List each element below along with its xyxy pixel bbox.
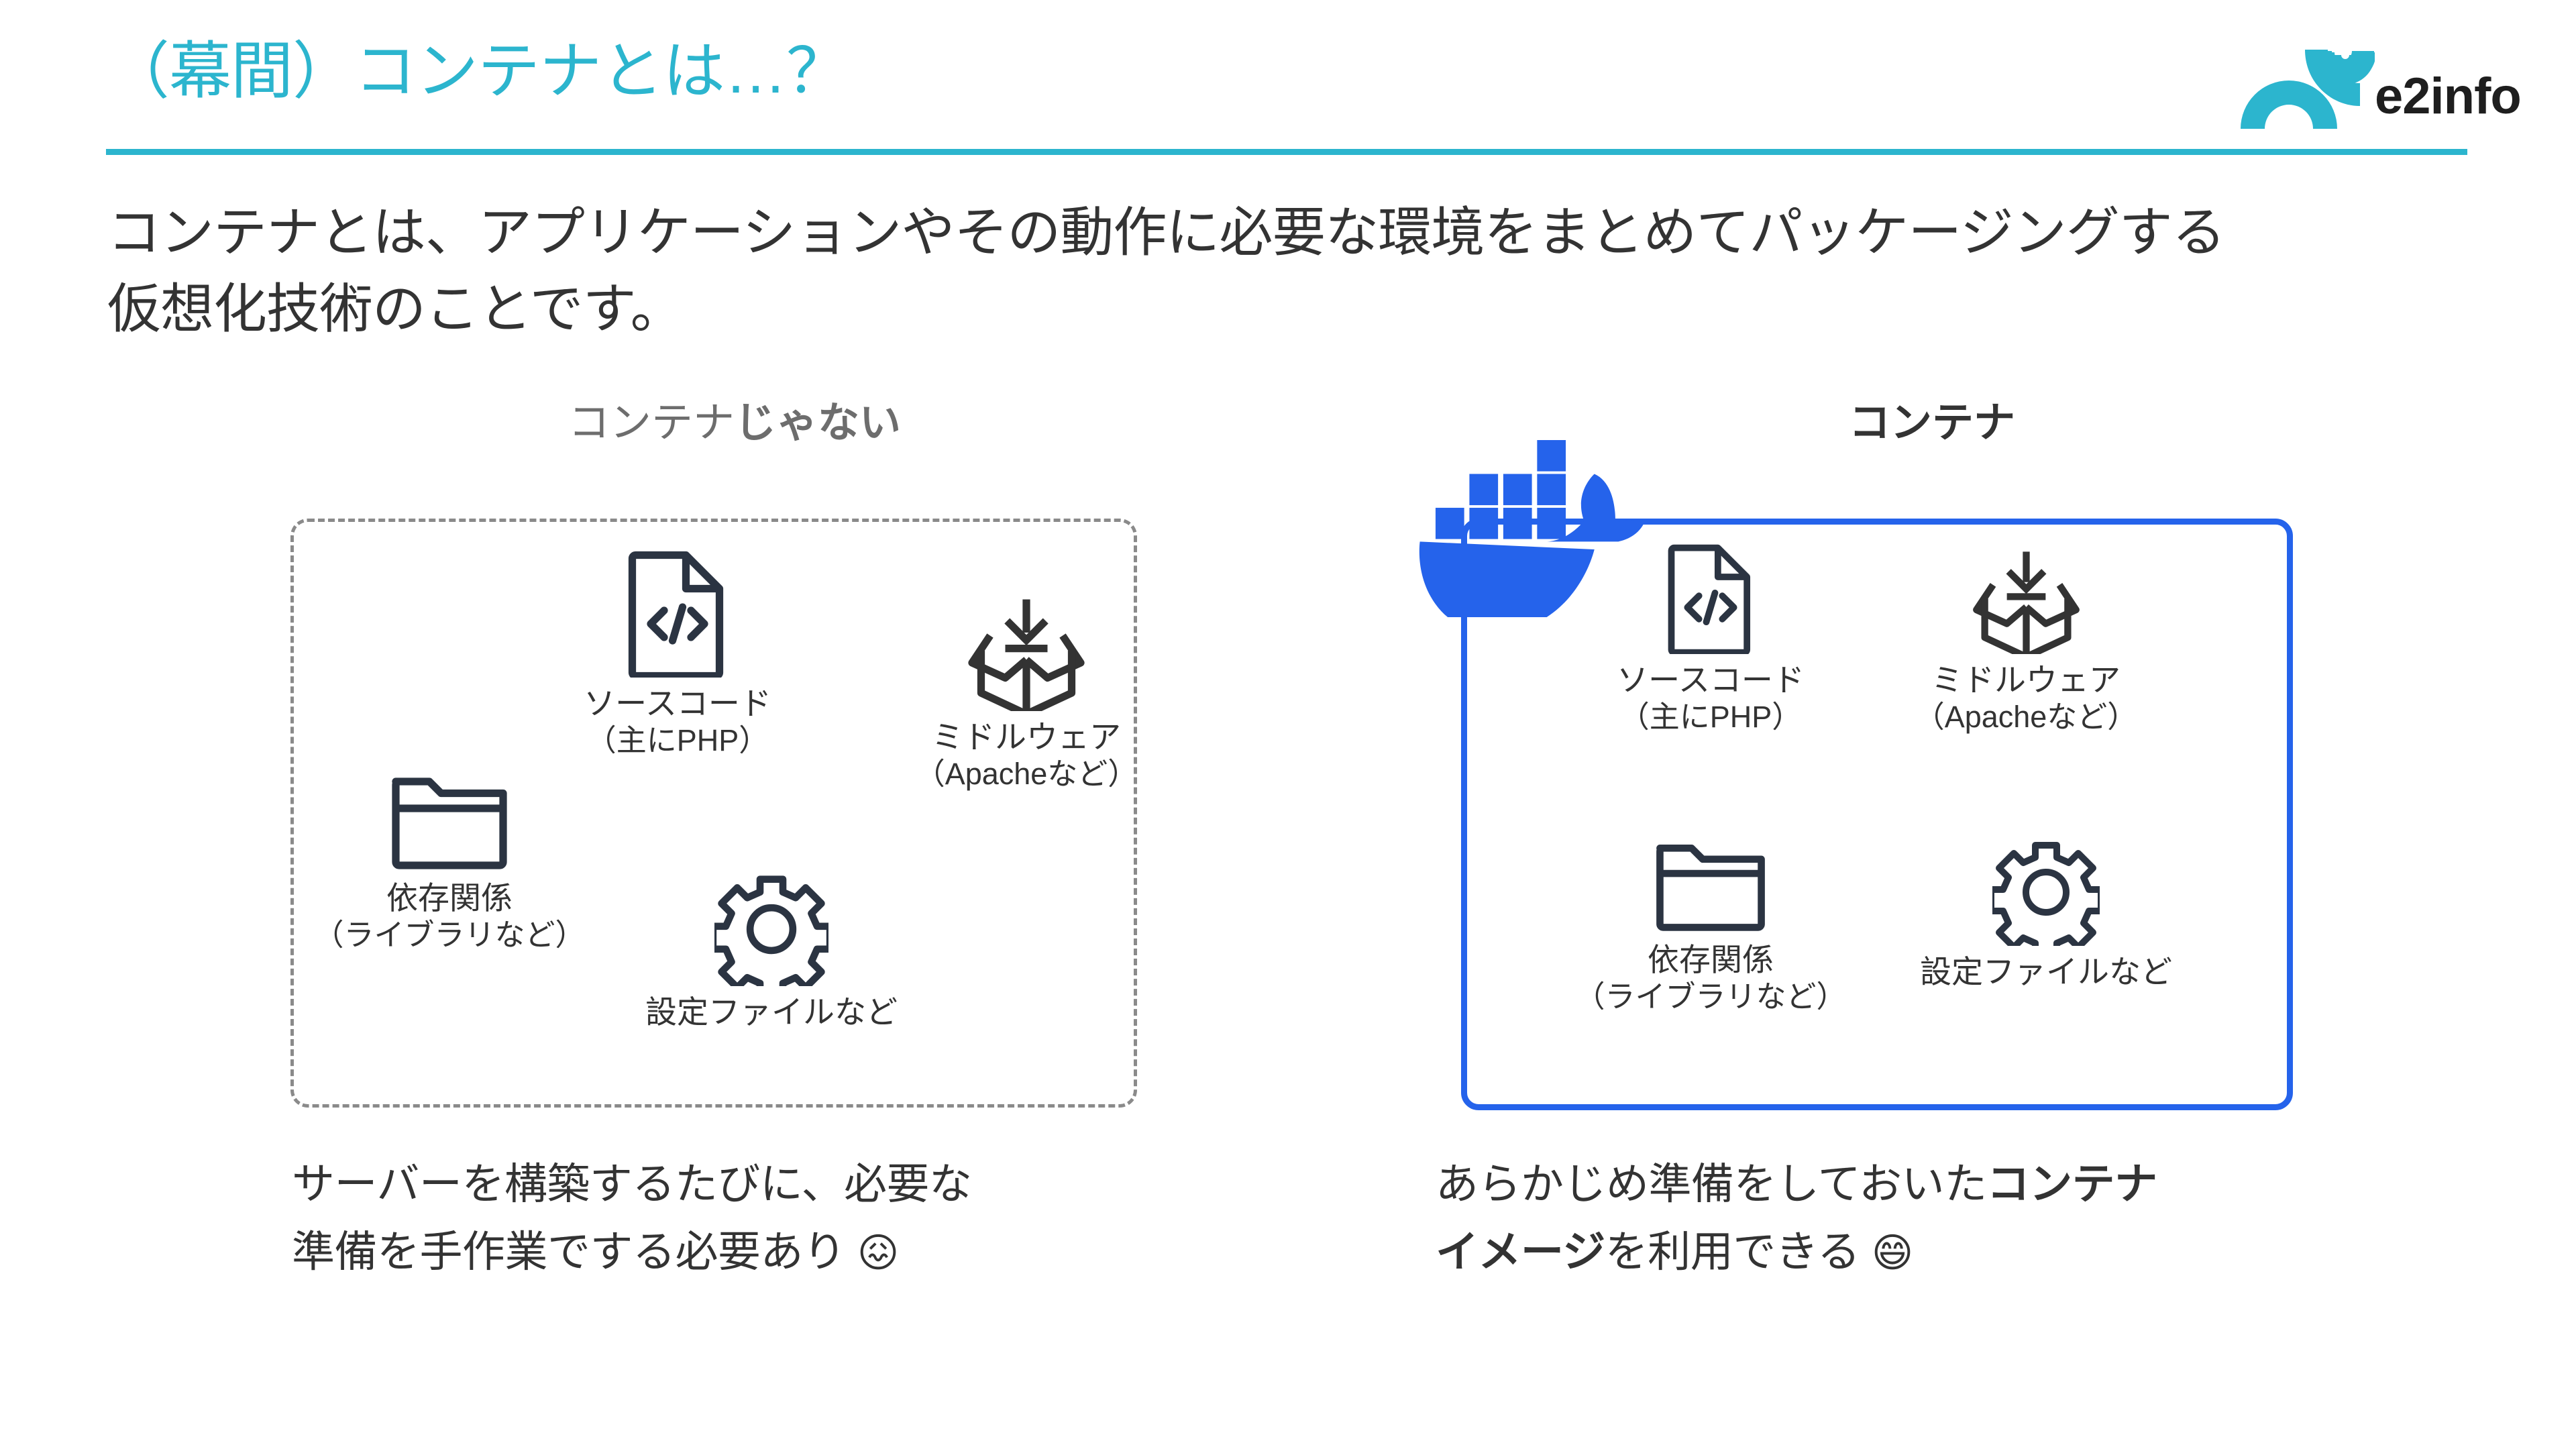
brand-logo: e2info — [2241, 46, 2482, 133]
right-caption-bold-1: コンテナ — [1987, 1160, 2157, 1208]
item-label: 設定ファイルなど — [604, 993, 939, 1031]
open-box-download-icon — [1971, 543, 2082, 654]
item-source-code-left: ソースコード （主にPHP） — [530, 550, 825, 759]
item-middleware-left: ミドルウェア （Apacheなど） — [879, 590, 1174, 793]
tired-face-emoji: 😖 — [857, 1230, 899, 1275]
slide-header: （幕間）コンテナとは…？ e2info — [0, 0, 2576, 161]
lead-line-2: 仮想化技術のことです。 — [107, 271, 2482, 347]
open-box-download-icon — [966, 590, 1087, 711]
docker-whale-icon — [1414, 396, 1676, 617]
left-caption-line-2: 準備を手作業でする必要あり 😖 — [292, 1218, 1231, 1286]
item-middleware-right: ミドルウェア （Apacheなど） — [1872, 543, 2180, 736]
item-label: ソースコード — [530, 684, 825, 722]
item-label: ソースコード — [1563, 661, 1858, 699]
left-heading-strong: じゃない — [735, 400, 901, 446]
folder-icon — [389, 771, 510, 872]
lead-line-1: コンテナとは、アプリケーションやその動作に必要な環境をまとめてパッケージングする — [107, 195, 2482, 271]
item-label: ミドルウェア — [1872, 661, 2180, 699]
left-caption-line-1: サーバーを構築するたびに、必要な — [292, 1150, 1231, 1218]
source-code-file-icon — [627, 550, 728, 678]
lead-paragraph: コンテナとは、アプリケーションやその動作に必要な環境をまとめてパッケージングする… — [107, 195, 2482, 347]
left-caption-text: 準備を手作業でする必要あり — [292, 1228, 857, 1276]
item-config-right: 設定ファイルなど — [1872, 839, 2220, 991]
left-column-heading: コンテナじゃない — [315, 402, 1154, 444]
slide-root: （幕間）コンテナとは…？ e2info コンテナとは、アプリケーションやその動作… — [0, 0, 2576, 1449]
right-caption-pre: あらかじめ準備をしておいた — [1436, 1160, 1987, 1208]
item-sublabel: （Apacheなど） — [1872, 699, 2180, 736]
right-caption-line-1: あらかじめ準備をしておいたコンテナ — [1436, 1150, 2442, 1218]
item-sublabel: （主にPHP） — [530, 722, 825, 759]
item-dependencies-left: 依存関係 （ライブラリなど） — [302, 771, 597, 954]
gear-icon — [714, 872, 828, 986]
source-code-file-icon — [1667, 543, 1754, 654]
left-heading-plain: コンテナ — [568, 400, 735, 446]
right-caption: あらかじめ準備をしておいたコンテナ イメージを利用できる 😄 — [1436, 1150, 2442, 1286]
item-sublabel: （ライブラリなど） — [1563, 979, 1858, 1016]
item-sublabel: （主にPHP） — [1563, 699, 1858, 736]
left-caption: サーバーを構築するたびに、必要な 準備を手作業でする必要あり 😖 — [292, 1150, 1231, 1286]
item-label: ミドルウェア — [879, 718, 1174, 756]
right-caption-line-2: イメージを利用できる 😄 — [1436, 1218, 2442, 1286]
page-title: （幕間）コンテナとは…？ — [107, 39, 848, 105]
header-divider — [106, 149, 2467, 155]
item-label: 依存関係 — [302, 879, 597, 917]
grinning-face-emoji: 😄 — [1872, 1230, 1913, 1275]
item-config-left: 設定ファイルなど — [604, 872, 939, 1031]
item-label: 依存関係 — [1563, 941, 1858, 979]
logo-wordmark: e2info — [2375, 71, 2521, 122]
item-dependencies-right: 依存関係 （ライブラリなど） — [1563, 839, 1858, 1016]
left-column: コンテナじゃない — [255, 402, 1154, 444]
gear-icon — [1992, 839, 2100, 946]
item-label: 設定ファイルなど — [1872, 953, 2220, 991]
folder-icon — [1654, 839, 1768, 934]
right-caption-bold-2: イメージ — [1436, 1228, 1605, 1276]
item-sublabel: （Apacheなど） — [879, 756, 1174, 793]
e2info-arcs-logo-icon — [2241, 50, 2375, 130]
item-sublabel: （ライブラリなど） — [302, 917, 597, 954]
right-caption-post: を利用できる — [1605, 1228, 1872, 1276]
